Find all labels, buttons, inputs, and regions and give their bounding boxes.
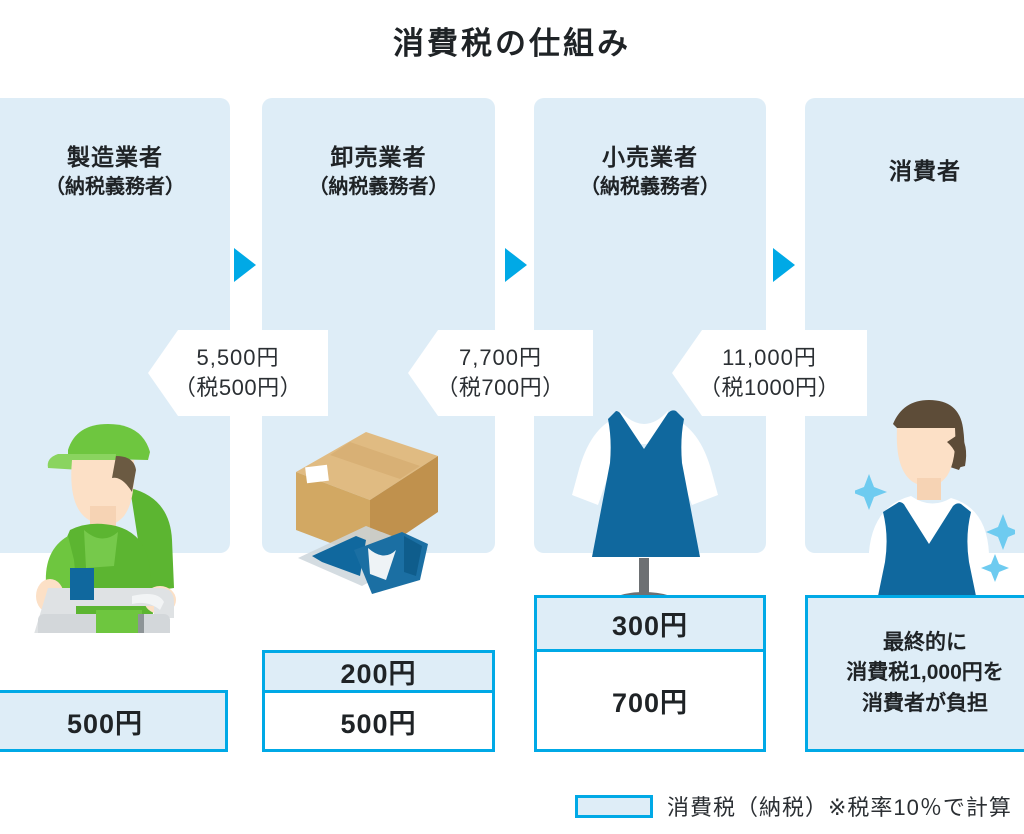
stage-sub: （納税義務者） [262, 174, 495, 202]
payment-arrow-retailer: 11,000円 （税1000円） [672, 330, 867, 416]
summary-line-1: 最終的に [883, 628, 967, 658]
stage-name: 消費者 [889, 158, 961, 184]
supply-chain-row: 製造業者 （納税義務者） 卸売業者 （納税義務者） 小売業者 （納税義務者） 消… [0, 98, 1024, 553]
tax-box-wholesaler-paid: 200円 [262, 650, 495, 693]
tax-box-manufacturer-paid: 500円 [0, 690, 228, 752]
tax-box-retailer-paid: 300円 [534, 595, 766, 652]
payment-arrow-wholesaler: 7,700円 （税700円） [408, 330, 593, 416]
stage-name: 小売業者 [602, 144, 698, 170]
legend-label: 消費税（納税）※税率10％で計算 [667, 790, 1012, 822]
payment-tax: （税500円） [174, 373, 302, 403]
page-title: 消費税の仕組み [0, 18, 1024, 63]
tax-box-consumer-summary: 最終的に 消費税1,000円を 消費者が負担 [805, 595, 1024, 752]
stage-name: 製造業者 [67, 144, 163, 170]
stage-label-retailer: 小売業者 （納税義務者） [534, 142, 766, 201]
payment-tax: （税700円） [436, 373, 564, 403]
tax-box-wholesaler-credit: 500円 [262, 690, 495, 752]
summary-line-3: 消費者が負担 [862, 689, 988, 719]
stage-sub: （納税義務者） [534, 174, 766, 202]
stage-label-wholesaler: 卸売業者 （納税義務者） [262, 142, 495, 201]
stage-label-consumer: 消費者 [805, 156, 1024, 188]
tax-box-retailer-credit: 700円 [534, 649, 766, 752]
chevron-right-icon [505, 248, 527, 282]
stage-sub: （納税義務者） [0, 174, 230, 202]
stage-label-manufacturer: 製造業者 （納税義務者） [0, 142, 230, 201]
tax-breakdown-row: 500円 200円 500円 300円 700円 最終的に 消費税1,000円を… [0, 560, 1024, 760]
legend: 消費税（納税）※税率10％で計算 [575, 790, 1012, 822]
consumption-tax-swatch-icon [575, 795, 653, 818]
chevron-right-icon [773, 248, 795, 282]
chevron-right-icon [234, 248, 256, 282]
summary-line-2: 消費税1,000円を [846, 658, 1004, 688]
payment-tax: （税1000円） [699, 373, 840, 403]
infographic-root: 消費税の仕組み 製造業者 （納税義務者） 卸売業者 （納税義務者） 小売業者 （… [0, 0, 1024, 834]
payment-amount: 11,000円 [722, 343, 817, 373]
stage-name: 卸売業者 [331, 144, 427, 170]
payment-amount: 7,700円 [459, 343, 542, 373]
payment-amount: 5,500円 [196, 343, 279, 373]
payment-arrow-manufacturer: 5,500円 （税500円） [148, 330, 328, 416]
